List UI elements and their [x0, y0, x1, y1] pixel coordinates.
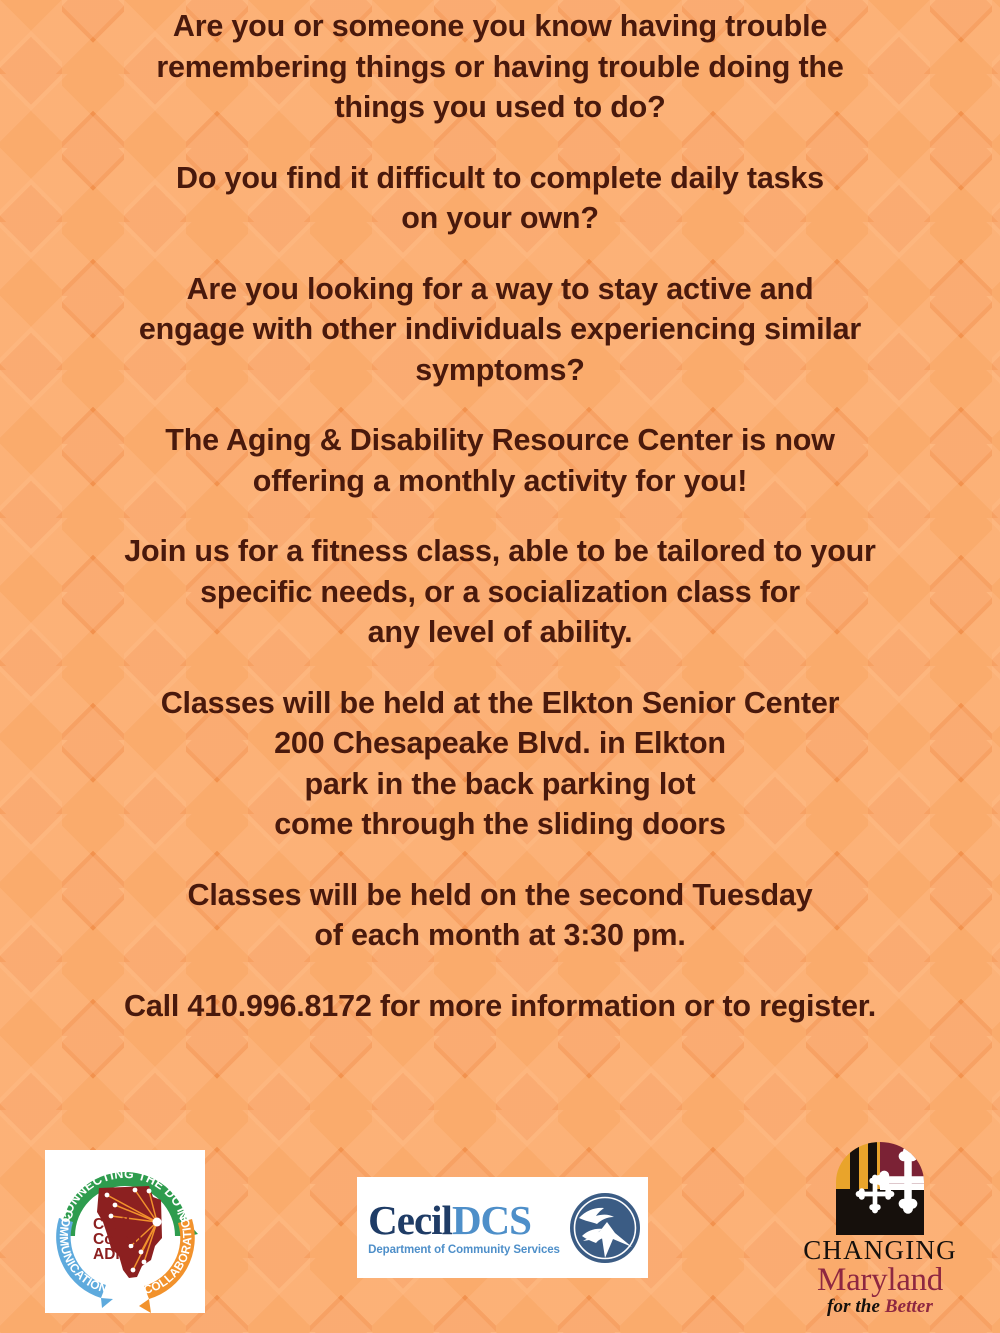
- paragraph-schedule-details: Classes will be held on the second Tuesd…: [26, 875, 974, 956]
- copy-line: Are you looking for a way to stay active…: [26, 269, 974, 310]
- copy-line: Classes will be held on the second Tuesd…: [26, 875, 974, 916]
- copy-line: park in the back parking lot: [26, 764, 974, 805]
- paragraph-class-description: Join us for a fitness class, able to be …: [26, 531, 974, 653]
- copy-line: Join us for a fitness class, able to be …: [26, 531, 974, 572]
- dcs-wordmark: CecilDCS: [368, 1200, 560, 1241]
- dcs-wordmark-dcs: DCS: [452, 1197, 531, 1243]
- paragraph-adrc-offer: The Aging & Disability Resource Center i…: [26, 420, 974, 501]
- copy-line: symptoms?: [26, 350, 974, 391]
- copy-line: Are you or someone you know having troub…: [26, 6, 974, 47]
- partner-logo-strip: CONNECTING THE DOTS COMMUNICATION COLLAB…: [0, 1142, 1000, 1333]
- copy-line: Do you find it difficult to complete dai…: [26, 158, 974, 199]
- adrc-circular-logo-icon: CONNECTING THE DOTS COMMUNICATION COLLAB…: [45, 1150, 205, 1313]
- copy-line: offering a monthly activity for you!: [26, 461, 974, 502]
- maryland-line-maryland: Maryland: [795, 1263, 965, 1297]
- copy-line: engage with other individuals experienci…: [26, 309, 974, 350]
- flyer-page: Are you or someone you know having troub…: [0, 0, 1000, 1333]
- paragraph-memory-trouble-question: Are you or someone you know having troub…: [26, 6, 974, 128]
- maryland-line-for-the-better: for the Better: [795, 1296, 965, 1318]
- maryland-flag-dome-emblem-icon: [820, 1142, 940, 1235]
- copy-line-phone-number: Call 410.996.8172 for more information o…: [26, 986, 974, 1027]
- geese-and-compass-star-emblem-icon: [569, 1192, 641, 1264]
- maryland-line-changing: CHANGING: [795, 1235, 965, 1265]
- paragraph-location-details: Classes will be held at the Elkton Senio…: [26, 683, 974, 845]
- copy-line: specific needs, or a socialization class…: [26, 572, 974, 613]
- paragraph-call-to-action: Call 410.996.8172 for more information o…: [26, 986, 974, 1027]
- paragraph-stay-active-question: Are you looking for a way to stay active…: [26, 269, 974, 391]
- adrc-center-line-3: ADRC: [93, 1246, 138, 1263]
- copy-line: The Aging & Disability Resource Center i…: [26, 420, 974, 461]
- maryland-for-the: for the: [827, 1296, 885, 1317]
- dcs-tagline: Department of Community Services: [368, 1244, 560, 1256]
- flyer-body-copy: Are you or someone you know having troub…: [0, 0, 1000, 1026]
- paragraph-daily-tasks-question: Do you find it difficult to complete dai…: [26, 158, 974, 239]
- logo-cecil-county-adrc: CONNECTING THE DOTS COMMUNICATION COLLAB…: [45, 1150, 205, 1313]
- copy-line: remembering things or having trouble doi…: [26, 47, 974, 88]
- copy-line: come through the sliding doors: [26, 804, 974, 845]
- dcs-wordmark-cecil: Cecil: [368, 1197, 452, 1243]
- logo-changing-maryland: CHANGING Maryland for the Better: [795, 1142, 965, 1328]
- copy-line: things you used to do?: [26, 87, 974, 128]
- copy-line: Classes will be held at the Elkton Senio…: [26, 683, 974, 724]
- copy-line: on your own?: [26, 198, 974, 239]
- maryland-better: Better: [885, 1296, 933, 1317]
- logo-cecil-dcs: CecilDCS Department of Community Service…: [357, 1177, 648, 1278]
- copy-line: any level of ability.: [26, 612, 974, 653]
- copy-line: of each month at 3:30 pm.: [26, 915, 974, 956]
- copy-line: 200 Chesapeake Blvd. in Elkton: [26, 723, 974, 764]
